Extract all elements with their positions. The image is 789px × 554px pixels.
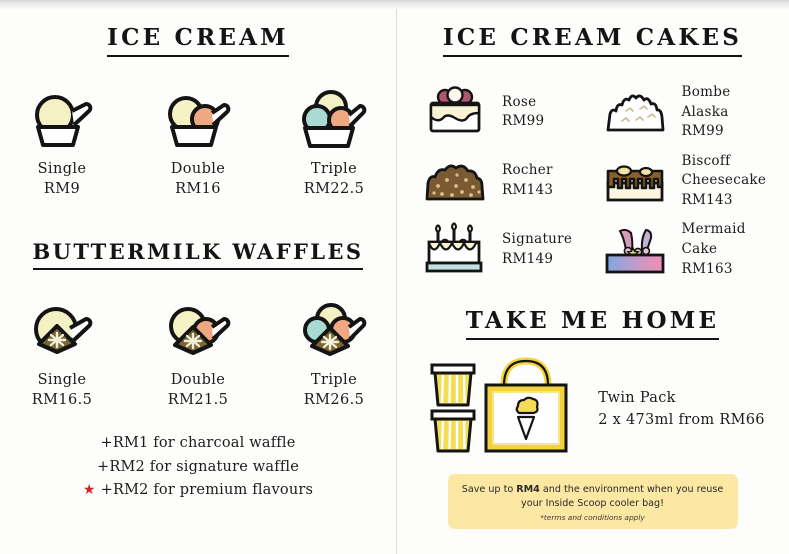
- waffle-double-price: RM21.5: [144, 391, 252, 411]
- mermaid-cake-text: Mermaid Cake RM163: [682, 220, 772, 279]
- signature-cake-icon: [418, 221, 492, 279]
- rose-cake-icon: [418, 83, 492, 141]
- cakes-title-text: ICE CREAM CAKES: [443, 24, 742, 57]
- waffle-double-icon: [144, 296, 252, 362]
- cake-item-mermaid[interactable]: Mermaid Cake RM163: [598, 220, 772, 279]
- addon-signature-text: +RM2 for signature waffle: [97, 459, 299, 475]
- ice-cream-triple-name: Triple: [280, 160, 388, 180]
- addon-charcoal-waffle: +RM1 for charcoal waffle: [0, 432, 396, 455]
- bombe-alaska-cake-icon: [598, 83, 672, 141]
- ice-cream-item-double[interactable]: Double RM16: [144, 85, 252, 199]
- rocher-cake-text: Rocher RM143: [502, 161, 553, 200]
- waffle-triple-icon: [280, 296, 388, 362]
- waffle-single-icon: [8, 296, 116, 362]
- signature-cake-name: Signature: [502, 230, 572, 250]
- promo-pre: Save up to: [462, 484, 517, 495]
- waffle-items-row: Single RM16.5: [0, 296, 396, 410]
- promo-terms: *terms and conditions apply: [458, 513, 728, 522]
- right-column: ICE CREAM CAKES Rose RM99: [396, 0, 789, 554]
- waffles-title-text: BUTTERMILK WAFFLES: [33, 239, 364, 270]
- top-gradient-strip: [0, 0, 789, 9]
- waffle-triple-price: RM26.5: [280, 391, 388, 411]
- ice-cream-title-text: ICE CREAM: [107, 24, 289, 57]
- waffle-triple-name: Triple: [280, 371, 388, 391]
- waffle-item-single[interactable]: Single RM16.5: [8, 296, 116, 410]
- column-divider: [396, 0, 397, 554]
- take-me-home-section-title: TAKE ME HOME: [396, 307, 789, 340]
- addon-signature-waffle: +RM2 for signature waffle: [0, 456, 396, 479]
- promo-banner: Save up to RM4 and the environment when …: [448, 474, 738, 529]
- ice-cream-section-title: ICE CREAM: [0, 24, 396, 57]
- signature-cake-text: Signature RM149: [502, 230, 572, 269]
- ice-cream-items-row: Single RM9 Double RM16: [0, 85, 396, 199]
- biscoff-cheesecake-price: RM143: [682, 191, 767, 211]
- waffle-single-name: Single: [8, 371, 116, 391]
- rocher-cake-icon: [418, 152, 492, 210]
- ice-cream-item-triple[interactable]: Triple RM22.5: [280, 85, 388, 199]
- promo-post: and the environment when you reuse: [540, 484, 723, 495]
- take-me-home-title-text: TAKE ME HOME: [466, 307, 719, 340]
- ice-cream-item-single[interactable]: Single RM9: [8, 85, 116, 199]
- menu-page: ICE CREAM Single RM9: [0, 0, 789, 554]
- promo-line-1: Save up to RM4 and the environment when …: [458, 483, 728, 497]
- take-me-home-row[interactable]: Twin Pack 2 x 473ml from RM66: [396, 354, 789, 464]
- cake-item-signature[interactable]: Signature RM149: [418, 220, 592, 279]
- cakes-grid: Rose RM99: [396, 83, 789, 279]
- mermaid-cake-icon: [598, 221, 672, 279]
- rose-cake-price: RM99: [502, 112, 544, 132]
- ice-cream-cup-double-icon: [144, 85, 252, 151]
- take-me-home-text: Twin Pack 2 x 473ml from RM66: [598, 387, 765, 432]
- mermaid-cake-name: Mermaid Cake: [682, 220, 772, 259]
- pint-tubs-and-cooler-bag-icon: [420, 354, 580, 464]
- rose-cake-text: Rose RM99: [502, 93, 544, 132]
- bombe-alaska-text: Bombe Alaska RM99: [682, 83, 772, 142]
- twin-pack-name: Twin Pack: [598, 387, 765, 409]
- bombe-alaska-name: Bombe Alaska: [682, 83, 772, 122]
- left-column: ICE CREAM Single RM9: [0, 0, 396, 554]
- rose-cake-name: Rose: [502, 93, 544, 113]
- ice-cream-double-name: Double: [144, 160, 252, 180]
- addon-premium-text: +RM2 for premium flavours: [101, 482, 314, 498]
- ice-cream-triple-price: RM22.5: [280, 180, 388, 200]
- bombe-alaska-price: RM99: [682, 122, 772, 142]
- addon-charcoal-text: +RM1 for charcoal waffle: [101, 435, 296, 451]
- waffle-addons-list: +RM1 for charcoal waffle +RM2 for signat…: [0, 432, 396, 502]
- mermaid-cake-price: RM163: [682, 260, 772, 280]
- addon-premium-flavours: ★+RM2 for premium flavours: [0, 479, 396, 502]
- star-icon: ★: [83, 482, 96, 498]
- ice-cream-single-price: RM9: [8, 180, 116, 200]
- promo-amount: RM4: [516, 484, 540, 495]
- rocher-cake-price: RM143: [502, 181, 553, 201]
- cake-item-biscoff-cheesecake[interactable]: Biscoff Cheesecake RM143: [598, 152, 772, 211]
- waffle-single-price: RM16.5: [8, 391, 116, 411]
- biscoff-cheesecake-text: Biscoff Cheesecake RM143: [682, 152, 767, 211]
- biscoff-cheesecake-name: Biscoff Cheesecake: [682, 152, 767, 191]
- waffles-section-title: BUTTERMILK WAFFLES: [0, 239, 396, 270]
- ice-cream-single-name: Single: [8, 160, 116, 180]
- waffle-item-double[interactable]: Double RM21.5: [144, 296, 252, 410]
- waffle-double-name: Double: [144, 371, 252, 391]
- cake-item-rocher[interactable]: Rocher RM143: [418, 152, 592, 211]
- ice-cream-cup-triple-icon: [280, 85, 388, 151]
- cakes-section-title: ICE CREAM CAKES: [396, 24, 789, 57]
- waffle-item-triple[interactable]: Triple RM26.5: [280, 296, 388, 410]
- biscoff-cheesecake-icon: [598, 152, 672, 210]
- ice-cream-double-price: RM16: [144, 180, 252, 200]
- ice-cream-cup-single-icon: [8, 85, 116, 151]
- cake-item-bombe-alaska[interactable]: Bombe Alaska RM99: [598, 83, 772, 142]
- signature-cake-price: RM149: [502, 250, 572, 270]
- promo-line-2: your Inside Scoop cooler bag!: [458, 497, 728, 511]
- rocher-cake-name: Rocher: [502, 161, 553, 181]
- cake-item-rose[interactable]: Rose RM99: [418, 83, 592, 142]
- twin-pack-detail: 2 x 473ml from RM66: [598, 409, 765, 431]
